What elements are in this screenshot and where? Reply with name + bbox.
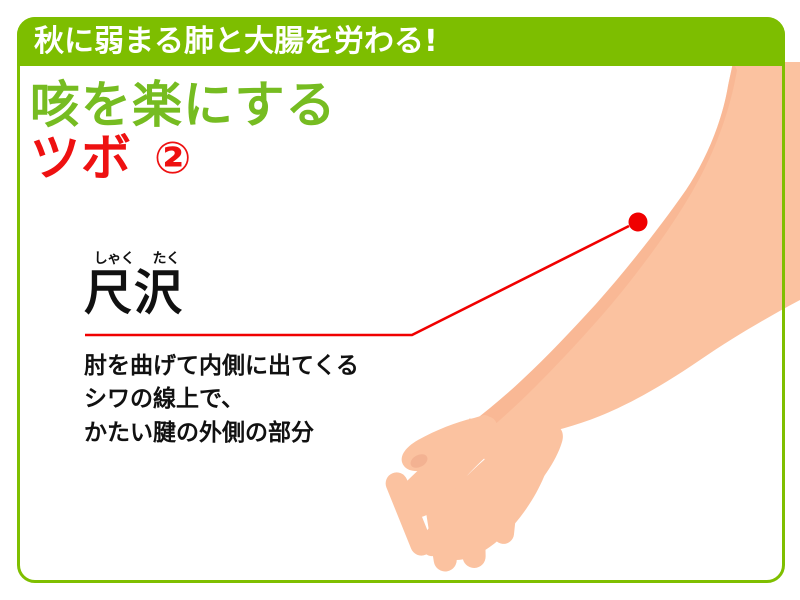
ring-finger — [461, 474, 486, 568]
acupoint-description: 肘を曲げて内側に出てくる シワの線上で、 かたい腱の外側の部分 — [84, 350, 359, 450]
description-line-1: 肘を曲げて内側に出てくる — [84, 350, 359, 383]
furigana-2: たく — [140, 252, 192, 266]
acupoint-marker-dot — [629, 213, 648, 232]
description-line-3: かたい腱の外側の部分 — [84, 417, 359, 450]
title-line-2-row: ツボ ② — [30, 133, 337, 184]
furigana-1: しゃく — [88, 252, 140, 266]
title-line-1: 咳を楽にする — [30, 80, 337, 131]
description-line-2: シワの線上で、 — [84, 383, 359, 416]
header-title: 秋に弱まる肺と大腸を労わる! — [34, 27, 438, 57]
acupoint-name-block: しゃく たく 尺沢 — [84, 252, 192, 318]
furigana-row: しゃく たく — [84, 252, 192, 266]
header-bar: 秋に弱まる肺と大腸を労わる! — [17, 17, 785, 66]
title-number-badge: ② — [154, 137, 191, 181]
poster-canvas: 秋に弱まる肺と大腸を労わる! 咳を楽にする ツボ ② しゃく たく 尺沢 肘を曲… — [0, 0, 800, 600]
acupoint-name: 尺沢 — [84, 265, 184, 321]
title-line-2: ツボ — [30, 133, 132, 184]
page-title: 咳を楽にする ツボ ② — [30, 80, 337, 184]
